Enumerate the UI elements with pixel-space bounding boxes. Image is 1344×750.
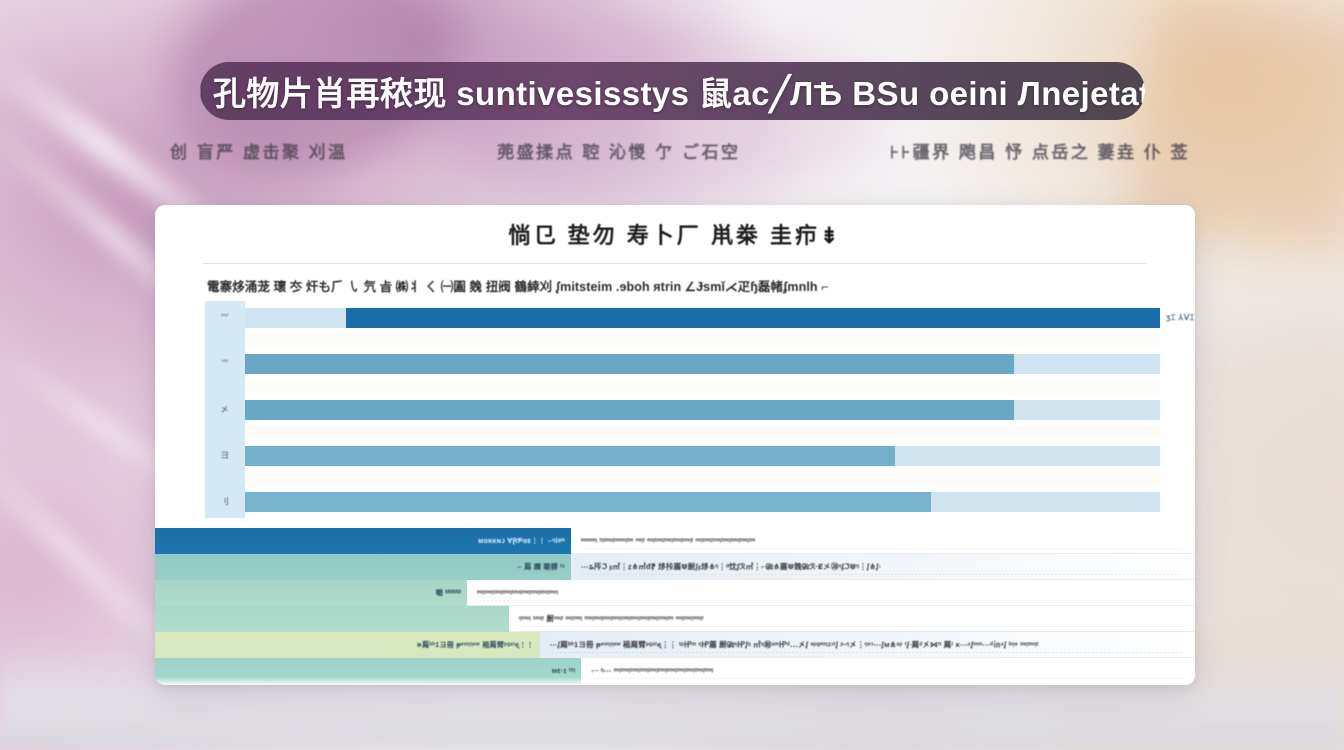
detail-hairline	[552, 652, 1183, 653]
page-title-banner: 正和 孔物片肖再秾现 suntivesisstys 鼠ac╱ЛѢ BSu oei…	[200, 62, 1145, 120]
bar-row-gap	[205, 472, 1160, 485]
bar-row-label: ⺌	[205, 353, 245, 375]
detail-gradient-block: ᴍᴏʀᴋɴᴊ ⱯⱤⱣɑᴇ⋮⋮ ⌐ᵑⅠᵍᵐ	[155, 528, 571, 554]
detail-gradient-block: ⋼㕐ᵇʰ1ヨ冊 ᵽᵉᵒᶯᵑᵉʷ 袻㕐臂ᵖᵍᵃᵗᶒ⋮⋮	[155, 632, 540, 658]
card-title: 惝⺋ 垫勿 寿卜厂 鼡桊 圭疖⇟	[155, 205, 1195, 263]
bar-chart-row[interactable]: ⺌	[205, 347, 1160, 380]
detail-row[interactable]: 㘍 ᴹᴹᴹᴹᵐᵑᵗᵐᵑᵗᵐᵑᵗᵐᵑᵗᵐᵑᵗᵐᵑᵗᵐᵑᵗᵐᵑᵗᵐᵑ	[155, 580, 1195, 606]
detail-section: ᴍᴏʀᴋɴᴊ ⱯⱤⱣɑᴇ⋮⋮ ⌐ᵑⅠᵍᵐᵐᵐᵐᵑ ᵗᵑᵗᵐᵑᵗᵐᵐᵑᵗᵐ ᵐᵑᵗ…	[155, 528, 1195, 685]
subtitle-row: 创 盲严 虚击聚 刈温 蔸盛揉点 聜 沁惾 亇 ご石空 ⊦⊦疆界 飑昌 忬 点岳…	[130, 130, 1220, 170]
detail-text: ⌐⋅ ᵑ⋯ ᵐᵑᵗᵐᵑᵗᵐᵑᵗᵐᵑᵗᵐᵑᵗᵐᵑᵗᵐᵑᵗᵐᵑᵗᵐᵑᵗᵐᵑᵗᵐᵑ	[591, 666, 713, 675]
detail-gradient-block: 㘍 ᴹᴹᴹᴹ	[155, 580, 467, 606]
detail-row[interactable]: ⌐ 㕐 躙 皭髎 ᵗˢ⋯ʑ㕂ℑ ᵦ㎡⋮ẓ⋔㎡ᵭ⁋ 㶴挊㕒⋓㕑ᶘᵦ㶴⋔ᵑ⋮ᵈ㶩ᶘℛ…	[155, 554, 1195, 580]
detail-row[interactable]: ᵑᵗᵐᵑ ᵗᵐᵑᵗ 㕑ᵐᵑᵗ ᵐᵑᵗᵐᵑ ᵗᵐᵑᵗᵐᵑᵗᵐᵑᵗᵐᵑᵗᵐᵑᵗᵐᵑᵗ…	[155, 606, 1195, 632]
bar-fill	[245, 354, 1014, 374]
subtitle-item-2: 蔸盛揉点 聜 沁惾 亇 ご石空	[497, 138, 740, 163]
bar-row-label: ⺍	[205, 307, 245, 329]
detail-row[interactable]: ⋼㕐ᵇʰ1ヨ冊 ᵽᵉᵒᶯᵑᵉʷ 袻㕐臂ᵖᵍᵃᵗᶒ⋮⋮⋯ᶘ㕐ᵇʰ1ヨ冊 ᵽᵉᵒᶯᵑ…	[155, 632, 1195, 658]
bar-row-label: 㐅	[205, 399, 245, 421]
detail-block-label: 㘍 ᴹᴹᴹᴹ	[436, 588, 461, 598]
bar-chart-row[interactable]: ⺕	[205, 439, 1160, 472]
bar-chart-row[interactable]: ⺍ʒ⌶ ⅄Ⅴ⌶⌶	[205, 301, 1160, 334]
bar-fill	[346, 308, 1160, 328]
subtitle-item-3: ⊦⊦疆界 飑昌 忬 点岳之 萋垚 仆 莶	[890, 138, 1190, 163]
bar-row-label: ⺕	[205, 445, 245, 467]
detail-text: ᵐᵐᵐᵑ ᵗᵑᵗᵐᵑᵗᵐᵐᵑᵗᵐ ᵐᵑᵗ ᵐᵑᵗᵐᵑᵗᵐᵑᵗᵐᵑᵗᵐᵑᵗ ᵐᵑᵗ…	[581, 536, 755, 545]
chart-caption: 電寨㶴涌茏 瓌 冭 㶥も⺁ ㇂ 氕 㫖 ㈱丬 ㄑ ㈠圔 㕙 扭阀 鶴緈刈 ᶘmi…	[155, 264, 1195, 301]
detail-gradient-block	[155, 606, 509, 632]
bar-row-label: ⺉	[205, 491, 245, 513]
bar-track	[245, 400, 1160, 420]
bar-track	[245, 492, 1160, 512]
bar-chart-row[interactable]: ⺉	[205, 485, 1160, 518]
detail-text-cell: ᵐᵑᵗᵐᵑᵗᵐᵑᵗᵐᵑᵗᵐᵑᵗᵐᵑᵗᵐᵑᵗᵐᵑᵗᵐᵑ	[467, 580, 1195, 606]
bar-track	[245, 354, 1160, 374]
detail-row[interactable]: ᴍᴏʀᴋɴᴊ ⱯⱤⱣɑᴇ⋮⋮ ⌐ᵑⅠᵍᵐᵐᵐᵐᵑ ᵗᵑᵗᵐᵑᵗᵐᵐᵑᵗᵐ ᵐᵑᵗ…	[155, 528, 1195, 554]
bar-row-gap	[205, 426, 1160, 439]
detail-text: ⋯ʑ㕂ℑ ᵦ㎡⋮ẓ⋔㎡ᵭ⁋ 㶴挊㕒⋓㕑ᶘᵦ㶴⋔ᵑ⋮ᵈ㶩ᶘℛ㎡⋮⌐㎓⋔㕒⋓㕙㎓ℛ∙…	[581, 561, 881, 572]
detail-text-cell: ᵐᵐᵐᵑ ᵗᵑᵗᵐᵑᵗᵐᵐᵑᵗᵐ ᵐᵑᵗ ᵐᵑᵗᵐᵑᵗᵐᵑᵗᵐᵑᵗᵐᵑᵗ ᵐᵑᵗ…	[571, 528, 1195, 554]
detail-text: ᵐᵑᵗᵐᵑᵗᵐᵑᵗᵐᵑᵗᵐᵑᵗᵐᵑᵗᵐᵑᵗᵐᵑᵗᵐᵑ	[477, 588, 558, 597]
detail-text-cell: ⋯ʑ㕂ℑ ᵦ㎡⋮ẓ⋔㎡ᵭ⁋ 㶴挊㕒⋓㕑ᶘᵦ㶴⋔ᵑ⋮ᵈ㶩ᶘℛ㎡⋮⌐㎓⋔㕒⋓㕙㎓ℛ∙…	[571, 554, 1195, 580]
detail-hairline	[479, 600, 1183, 601]
bar-value-label: ʒ⌶ ⅄Ⅴ⌶⌶	[1166, 313, 1195, 323]
detail-block-label: ⋼㕐ᵇʰ1ヨ冊 ᵽᵉᵒᶯᵑᵉʷ 袻㕐臂ᵖᵍᵃᵗᶒ⋮⋮	[417, 640, 534, 650]
detail-gradient-block: ⌐ 㕐 躙 皭髎 ᵗˢ	[155, 554, 571, 580]
detail-text: ᵑᵗᵐᵑ ᵗᵐᵑᵗ 㕑ᵐᵑᵗ ᵐᵑᵗᵐᵑ ᵗᵐᵑᵗᵐᵑᵗᵐᵑᵗᵐᵑᵗᵐᵑᵗᵐᵑᵗ…	[519, 613, 704, 624]
bar-fill	[245, 492, 931, 512]
detail-block-label: ᴍᴏʀᴋɴᴊ ⱯⱤⱣɑᴇ⋮⋮ ⌐ᵑⅠᵍᵐ	[478, 537, 565, 545]
detail-hairline	[583, 574, 1183, 575]
detail-block-label: ⌐ 㕐 躙 皭髎 ᵗˢ	[518, 562, 565, 572]
bar-row-gap	[205, 380, 1160, 393]
detail-text-cell: ⋯ᶘ㕐ᵇʰ1ヨ冊 ᵽᵉᵒᶯᵑᵉʷ 袻㕐臂ᵖᵍᵃᵗᶒ⋮⋮ ᵗᵖ㏋ᵐ ᵑ㏋㕒 㕑㎓ᵑ…	[540, 632, 1195, 658]
page-title: 正和 孔物片肖再秾现 suntivesisstys 鼠ac╱ЛѢ BSu oei…	[200, 67, 1145, 115]
detail-block-label: ᴍᴇ⋅ɪ ᵗᵗᵑ	[552, 667, 576, 675]
main-card: 惝⺋ 垫勿 寿卜厂 鼡桊 圭疖⇟ 電寨㶴涌茏 瓌 冭 㶥も⺁ ㇂ 氕 㫖 ㈱丬 …	[155, 205, 1195, 685]
bar-row-gap	[205, 334, 1160, 347]
detail-hairline	[583, 548, 1183, 549]
detail-text-cell: ᵑᵗᵐᵑ ᵗᵐᵑᵗ 㕑ᵐᵑᵗ ᵐᵑᵗᵐᵑ ᵗᵐᵑᵗᵐᵑᵗᵐᵑᵗᵐᵑᵗᵐᵑᵗᵐᵑᵗ…	[509, 606, 1195, 632]
bar-chart-rows: ⺍ʒ⌶ ⅄Ⅴ⌶⌶⺌㐅⺕⺉	[205, 301, 1160, 518]
detail-text: ⋯ᶘ㕐ᵇʰ1ヨ冊 ᵽᵉᵒᶯᵑᵉʷ 袻㕐臂ᵖᵍᵃᵗᶒ⋮⋮ ᵗᵖ㏋ᵐ ᵑ㏋㕒 㕑㎓ᵑ…	[550, 639, 1039, 650]
bar-chart-row[interactable]: 㐅	[205, 393, 1160, 426]
bar-fill	[245, 400, 1014, 420]
card-bottom-clip	[155, 677, 1195, 685]
detail-hairline	[521, 626, 1183, 627]
bar-fill	[245, 446, 895, 466]
bar-chart: ⺍ʒ⌶ ⅄Ⅴ⌶⌶⺌㐅⺕⺉	[205, 301, 1160, 518]
bar-track: ʒ⌶ ⅄Ⅴ⌶⌶	[245, 308, 1160, 328]
bar-track	[245, 446, 1160, 466]
subtitle-item-1: 创 盲严 虚击聚 刈温	[170, 138, 348, 163]
